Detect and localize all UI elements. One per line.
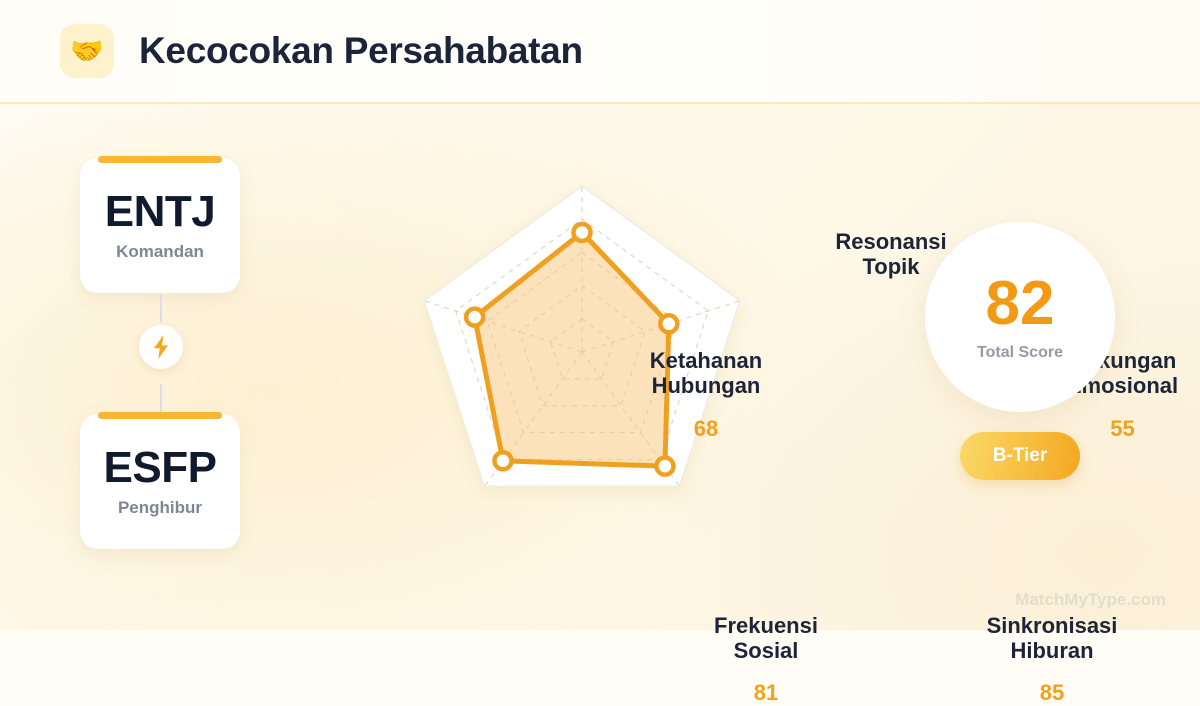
mbti-type-b: ESFP xyxy=(104,445,217,491)
header-bar: 🤝 Kecocokan Persahabatan xyxy=(0,0,1200,104)
tier-badge: B-Tier xyxy=(960,432,1080,480)
axis-value-ketahanan-hubungan: 68 xyxy=(616,416,796,442)
mbti-card-person-b[interactable]: ESFP Penghibur xyxy=(80,414,240,549)
pair-connector xyxy=(160,294,162,412)
mbti-name-b: Penghibur xyxy=(118,498,202,518)
axis-label-ketahanan-hubungan: Ketahanan Hubungan xyxy=(616,349,796,398)
mbti-card-person-a[interactable]: ENTJ Komandan xyxy=(80,158,240,293)
site-watermark: MatchMyType.com xyxy=(1015,590,1166,610)
connector-line-bottom xyxy=(160,384,162,412)
mbti-name-a: Komandan xyxy=(116,242,204,262)
card-accent-bar xyxy=(98,412,222,419)
axis-value-frekuensi-sosial: 81 xyxy=(676,680,856,706)
connector-line-top xyxy=(160,294,162,322)
page-title: Kecocokan Persahabatan xyxy=(139,30,583,72)
radar-chart: Resonansi Topik 72 Dukungan Emosional 55… xyxy=(330,110,840,550)
axis-label-sinkronisasi-hiburan: Sinkronisasi Hiburan xyxy=(962,614,1142,663)
lightning-bolt-icon xyxy=(139,325,183,369)
total-score-value: 82 xyxy=(986,273,1055,335)
axis-label-frekuensi-sosial: Frekuensi Sosial xyxy=(676,614,856,663)
axis-value-sinkronisasi-hiburan: 85 xyxy=(962,680,1142,706)
card-accent-bar xyxy=(98,156,222,163)
radar-chart-svg xyxy=(330,110,840,550)
mbti-type-a: ENTJ xyxy=(105,189,215,235)
handshake-glyph: 🤝 xyxy=(70,38,104,65)
infographic-canvas: 🤝 Kecocokan Persahabatan ENTJ Komandan E… xyxy=(0,0,1200,630)
total-score-label: Total Score xyxy=(977,344,1063,362)
handshake-icon: 🤝 xyxy=(60,24,114,78)
total-score-circle: 82 Total Score xyxy=(925,222,1115,412)
